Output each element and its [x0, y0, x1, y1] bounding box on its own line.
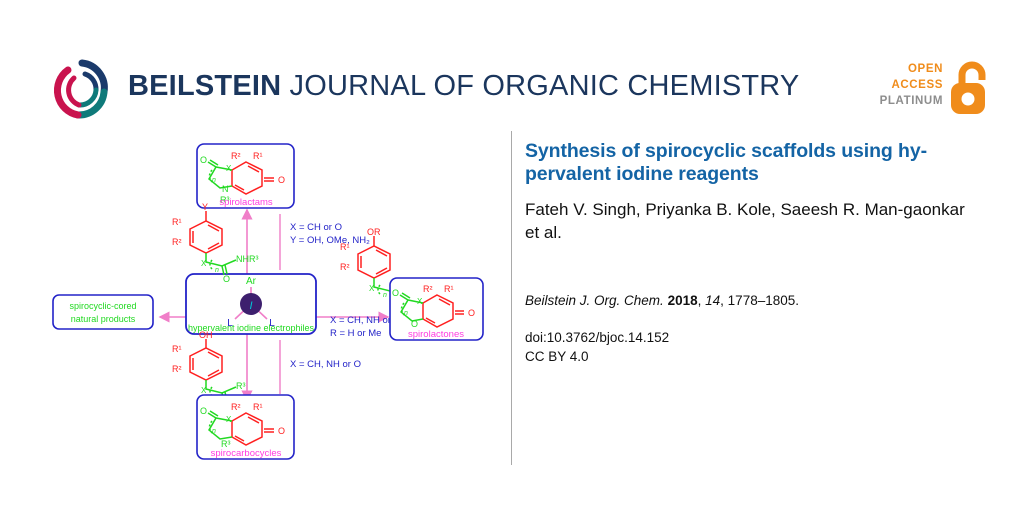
r3-label-bottom: R³ [236, 381, 246, 391]
oa-line-open: OPEN [880, 61, 943, 77]
r1-label-sub: R¹ [172, 217, 182, 227]
graphical-abstract-scheme: spirocyclic-cored natural products I Ar … [40, 132, 500, 472]
r2-label-bottom: R² [172, 364, 182, 374]
iodine-atom-label: I [249, 300, 252, 312]
r1-label-right: R¹ [340, 242, 350, 252]
r2-label-carbo: R² [231, 402, 241, 412]
n-label: n [212, 177, 216, 184]
nhr3-label: NHR³ [236, 254, 259, 264]
carbo-o-left: O [200, 406, 207, 416]
article-license[interactable]: CC BY 4.0 [525, 349, 589, 364]
x-label-bottom: X [201, 386, 207, 395]
r2-label: R² [231, 151, 241, 161]
article-title-line1: Synthesis of spirocyclic scaffolds using… [525, 140, 927, 162]
n-label-right: n [383, 292, 387, 299]
citation-volume: 14 [705, 293, 720, 308]
condition-top-y: Y = OH, OMe, NH₂ [290, 235, 370, 246]
carbocycle-carbonyl-o: O [278, 426, 285, 436]
column-divider [511, 131, 512, 465]
open-access-text: OPEN ACCESS PLATINUM [880, 61, 943, 109]
spirocarbocycles-box: O R² R¹ X n O R³ spirocarbocycles [197, 395, 294, 459]
n-label-sub: n [215, 267, 219, 274]
x-label-lactone: X [417, 297, 423, 306]
y-label: Y [202, 202, 208, 212]
r1-label-carbo: R¹ [253, 402, 263, 412]
lactone-ring-o: O [411, 319, 418, 329]
spirocarbocycles-caption: spirocarbocycles [211, 448, 282, 459]
condition-bottom-x: X = CH, NH or O [290, 359, 361, 370]
r1-label-lactone: R¹ [444, 284, 454, 294]
conditions-bottom: X = CH, NH or O [280, 340, 361, 394]
article-citation: Beilstein J. Org. Chem. 2018, 14, 1778–1… [525, 291, 975, 310]
carbonyl-o: O [278, 175, 285, 185]
beilstein-spiral-logo [52, 58, 112, 120]
x-label: X [226, 164, 232, 173]
spirolactams-caption: spirolactams [219, 197, 273, 208]
article-title-line2: pervalent iodine reagents [525, 163, 759, 185]
x-label-sub: X [201, 259, 207, 268]
oh-label-bottom: OH [199, 330, 213, 340]
n-label-lactone: n [404, 310, 408, 317]
article-authors: Fateh V. Singh, Priyanka B. Kole, Saeesh… [525, 198, 975, 244]
journal-title: BEILSTEIN JOURNAL OF ORGANIC CHEMISTRY [128, 70, 799, 103]
citation-journal: Beilstein J. Org. Chem. [525, 293, 664, 308]
natural-products-box: spirocyclic-cored natural products [53, 295, 153, 329]
spirolactones-caption: spirolactones [408, 329, 464, 340]
x-label-right: X [369, 284, 375, 293]
lactone-o-left: O [392, 288, 399, 298]
nitrogen-label: N [222, 184, 229, 194]
aryl-label: Ar [246, 276, 257, 287]
journal-header: BEILSTEIN JOURNAL OF ORGANIC CHEMISTRY O… [0, 0, 1024, 130]
spirolactams-box: O R² R¹ X n O N R³ spirolactams [197, 144, 294, 208]
oa-line-platinum: PLATINUM [880, 93, 943, 109]
citation-year: 2018 [668, 293, 698, 308]
hypervalent-iodine-hub: I Ar L L hypervalent iodine electrophile… [186, 274, 316, 334]
lactam-o: O [200, 155, 207, 165]
citation-pages: 1778–1805. [728, 293, 799, 308]
r2-label-right: R² [340, 262, 350, 272]
r2-label-lactone: R² [423, 284, 433, 294]
oa-line-access: ACCESS [880, 77, 943, 93]
n-label-carbo: n [212, 428, 216, 435]
spirolactones-box: O R² R¹ X n O O spirolactones [390, 278, 483, 340]
lactone-carbonyl-o: O [468, 308, 475, 318]
r1-label-bottom: R¹ [172, 344, 182, 354]
x-label-carbo: X [226, 415, 232, 424]
journal-title-rest: JOURNAL OF ORGANIC CHEMISTRY [281, 70, 799, 102]
article-title[interactable]: Synthesis of spirocyclic scaffolds using… [525, 140, 975, 186]
o-label-sub: O [223, 274, 230, 284]
article-doi[interactable]: doi:10.3762/bjoc.14.152 [525, 330, 669, 345]
natural-products-line1: spirocyclic-cored [69, 301, 136, 311]
article-metadata: Synthesis of spirocyclic scaffolds using… [525, 140, 975, 366]
condition-right-r: R = H or Me [330, 328, 381, 339]
article-doi-block: doi:10.3762/bjoc.14.152 CC BY 4.0 [525, 328, 975, 366]
r2-label-sub: R² [172, 237, 182, 247]
journal-title-bold: BEILSTEIN [128, 70, 281, 102]
citation-sep2: , [720, 293, 728, 308]
or-label: OR [367, 227, 381, 237]
natural-products-line2: natural products [71, 314, 136, 324]
graphical-abstract-card: BEILSTEIN JOURNAL OF ORGANIC CHEMISTRY O… [0, 0, 1024, 512]
r1-label: R¹ [253, 151, 263, 161]
substrate-top: Y R¹ R² X n O NHR³ [172, 202, 259, 284]
citation-sep1: , [698, 293, 706, 308]
condition-top-x: X = CH or O [290, 222, 342, 233]
open-access-badge: OPEN ACCESS PLATINUM [873, 58, 995, 120]
open-padlock-icon [949, 60, 995, 116]
conditions-top: X = CH or O Y = OH, OMe, NH₂ [280, 214, 370, 270]
